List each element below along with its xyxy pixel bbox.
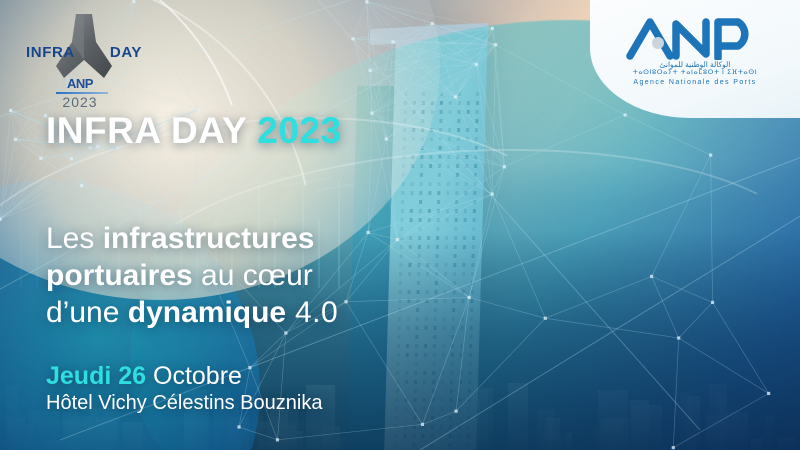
badge-year: 2023 <box>12 94 148 110</box>
anp-arabic-line: الوكالة الوطنية للموانئ <box>606 60 784 69</box>
headline-year: 2023 <box>257 110 341 151</box>
anp-corporate-logo: الوكالة الوطنية للموانئ ⵜⴰⵙⵏⵓⵔⴰⵢⵜ ⵜⴰⵏⴰⵎⵓ… <box>606 14 784 87</box>
subheadline-l1-plain: Les <box>46 222 103 255</box>
event-date: Jeudi 26 Octobre <box>46 362 242 391</box>
subheadline-l1-bold: infrastructures <box>103 222 315 255</box>
subheadline-l2-bold: portuaires <box>46 259 193 292</box>
event-subheadline: Les infrastructures portuaires au cœur d… <box>46 220 338 332</box>
event-day: Jeudi 26 <box>46 362 146 390</box>
headline-title: INFRA DAY <box>46 110 247 151</box>
subheadline-l3-bold: dynamique <box>128 296 286 329</box>
anp-french-line: Agence Nationale des Ports <box>606 79 784 88</box>
anp-logo-icon <box>620 14 770 60</box>
subheadline-l3-plain: d’une <box>46 296 128 329</box>
subheadline-line-2: portuaires au cœur <box>46 257 338 294</box>
infra-day-badge: INFRA DAY ANP 2023 <box>12 6 148 118</box>
anp-tifinagh-line: ⵜⴰⵙⵏⵓⵔⴰⵢⵜ ⵜⴰⵏⴰⵎⵓⵔⵜ ⵏ ⵉⴼⵜⴰⵙⵏ <box>606 69 784 77</box>
infra-day-poster: INFRA DAY ANP 2023 الوكالة الوطنية للموا… <box>0 0 800 450</box>
subheadline-l3-suffix: 4.0 <box>286 296 338 329</box>
badge-anp-mark: ANP <box>12 76 148 91</box>
event-venue: Hôtel Vichy Célestins Bouznika <box>46 392 322 415</box>
subheadline-line-3: d’une dynamique 4.0 <box>46 294 338 331</box>
subheadline-line-1: Les infrastructures <box>46 220 338 257</box>
event-month: Octobre <box>146 362 242 390</box>
subheadline-l2-plain: au cœur <box>193 259 313 292</box>
badge-infra-label: INFRA <box>26 44 75 61</box>
badge-day-label: DAY <box>110 44 142 61</box>
event-headline: INFRA DAY 2023 <box>46 110 342 152</box>
